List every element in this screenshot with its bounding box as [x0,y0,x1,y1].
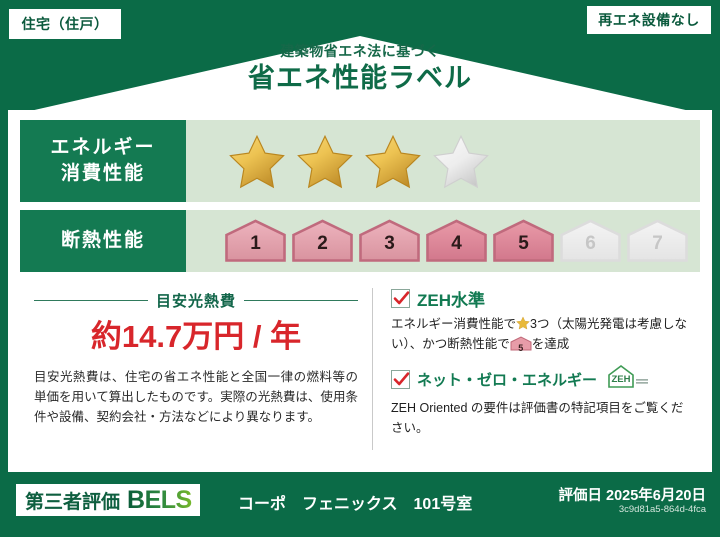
badge-building-type: 住宅（住戸） [8,8,122,40]
zeh-standard-body-part3: を達成 [532,337,570,351]
badge-renewable-equipment: 再エネ設備なし [586,5,712,35]
star-rating [186,133,490,189]
zeh-standard-header: ZEH水準 [391,286,694,311]
zeh-standard-body: エネルギー消費性能で 3つ（太陽光発電は考慮しない）、かつ断熱性能で 5を達成 [391,314,694,354]
star-filled-icon [228,133,286,189]
energy-label-line2: 消費性能 [61,161,145,187]
energy-performance-label: エネルギー 消費性能 [20,120,186,202]
zeh-logo-icon: ZEH [606,364,652,395]
house-level-empty: 7 [626,219,689,263]
house-level-number: 1 [224,233,287,255]
house-level-empty: 6 [559,219,622,263]
house-level-filled: 4 [425,219,488,263]
house-level-filled: 5 [492,219,555,263]
bels-logo-text: BELS [127,486,192,514]
page-title: 省エネ性能ラベル [0,61,720,95]
label-footer: 第三者評価 BELS コーポ フェニックス 101号室 評価日 2025年6月2… [0,472,720,537]
bels-japanese-text: 第三者評価 [25,487,120,514]
energy-performance-row: エネルギー 消費性能 [20,120,700,202]
evaluation-id: 3c9d81a5-864d-4fca [619,504,706,515]
energy-performance-label: 建築物省エネ法に基づく 省エネ性能ラベル 住宅（住戸） 再エネ設備なし エネルギ… [0,0,720,537]
cost-heading: 目安光熱費 [34,290,358,311]
property-name: コーポ フェニックス 101号室 [238,490,472,514]
check-icon [393,371,410,388]
insulation-label-text: 断熱性能 [61,229,145,253]
insulation-level-scale: 1234567 [186,219,689,263]
title-block: 建築物省エネ法に基づく 省エネ性能ラベル [0,42,720,95]
bels-badge: 第三者評価 BELS [16,484,200,516]
insulation-performance-label: 断熱性能 [20,210,186,272]
estimated-cost-value: 約14.7万円 / 年 [34,319,358,355]
svg-text:ZEH: ZEH [612,374,631,385]
house-level-number: 6 [559,233,622,255]
house-level-number: 7 [626,233,689,255]
star-filled-icon [364,133,422,189]
lower-panel: 目安光熱費 約14.7万円 / 年 目安光熱費は、住宅の省エネ性能と全国一律の燃… [20,282,700,460]
zeh-standard-title: ZEH水準 [417,286,485,311]
net-zero-header: ネット・ゼロ・エネルギー ZEH [391,364,694,395]
house-level-number: 3 [358,233,421,255]
net-zero-checkbox[interactable] [391,370,410,389]
energy-label-line1: エネルギー [50,135,155,161]
net-zero-item: ネット・ゼロ・エネルギー ZEH ZEH Oriented の要件は評価書の特記… [391,364,694,438]
inline-star-icon [516,316,530,330]
net-zero-body: ZEH Oriented の要件は評価書の特記項目をご覧ください。 [391,398,694,438]
inline-house-level-icon: 5 [510,336,532,351]
zeh-column: ZEH水準 エネルギー消費性能で 3つ（太陽光発電は考慮しない）、かつ断熱性能で… [373,282,700,460]
insulation-performance-row: 断熱性能 1234567 [20,210,700,272]
inline-house-level-number: 5 [510,338,532,358]
house-level-number: 5 [492,233,555,255]
house-level-filled: 2 [291,219,354,263]
evaluation-date: 評価日 2025年6月20日 [559,484,706,505]
cost-rule-left [34,300,148,301]
house-level-number: 4 [425,233,488,255]
label-subtitle: 建築物省エネ法に基づく [0,42,720,60]
zeh-standard-item: ZEH水準 エネルギー消費性能で 3つ（太陽光発電は考慮しない）、かつ断熱性能で… [391,286,694,354]
star-empty-icon [432,133,490,189]
house-level-filled: 3 [358,219,421,263]
cost-rule-right [244,300,358,301]
zeh-standard-body-part1: エネルギー消費性能で [391,317,516,331]
net-zero-title: ネット・ゼロ・エネルギー [417,369,597,390]
star-filled-icon [296,133,354,189]
label-body-card: エネルギー 消費性能 断熱性能 1234567 目安光熱費 約14.7万円 / … [8,110,712,472]
house-level-filled: 1 [224,219,287,263]
check-icon [393,290,410,307]
house-level-number: 2 [291,233,354,255]
cost-heading-text: 目安光熱費 [156,290,236,311]
cost-column: 目安光熱費 約14.7万円 / 年 目安光熱費は、住宅の省エネ性能と全国一律の燃… [20,282,372,460]
zeh-standard-checkbox[interactable] [391,289,410,308]
cost-disclaimer: 目安光熱費は、住宅の省エネ性能と全国一律の燃料等の単価を用いて算出したものです。… [34,367,358,427]
